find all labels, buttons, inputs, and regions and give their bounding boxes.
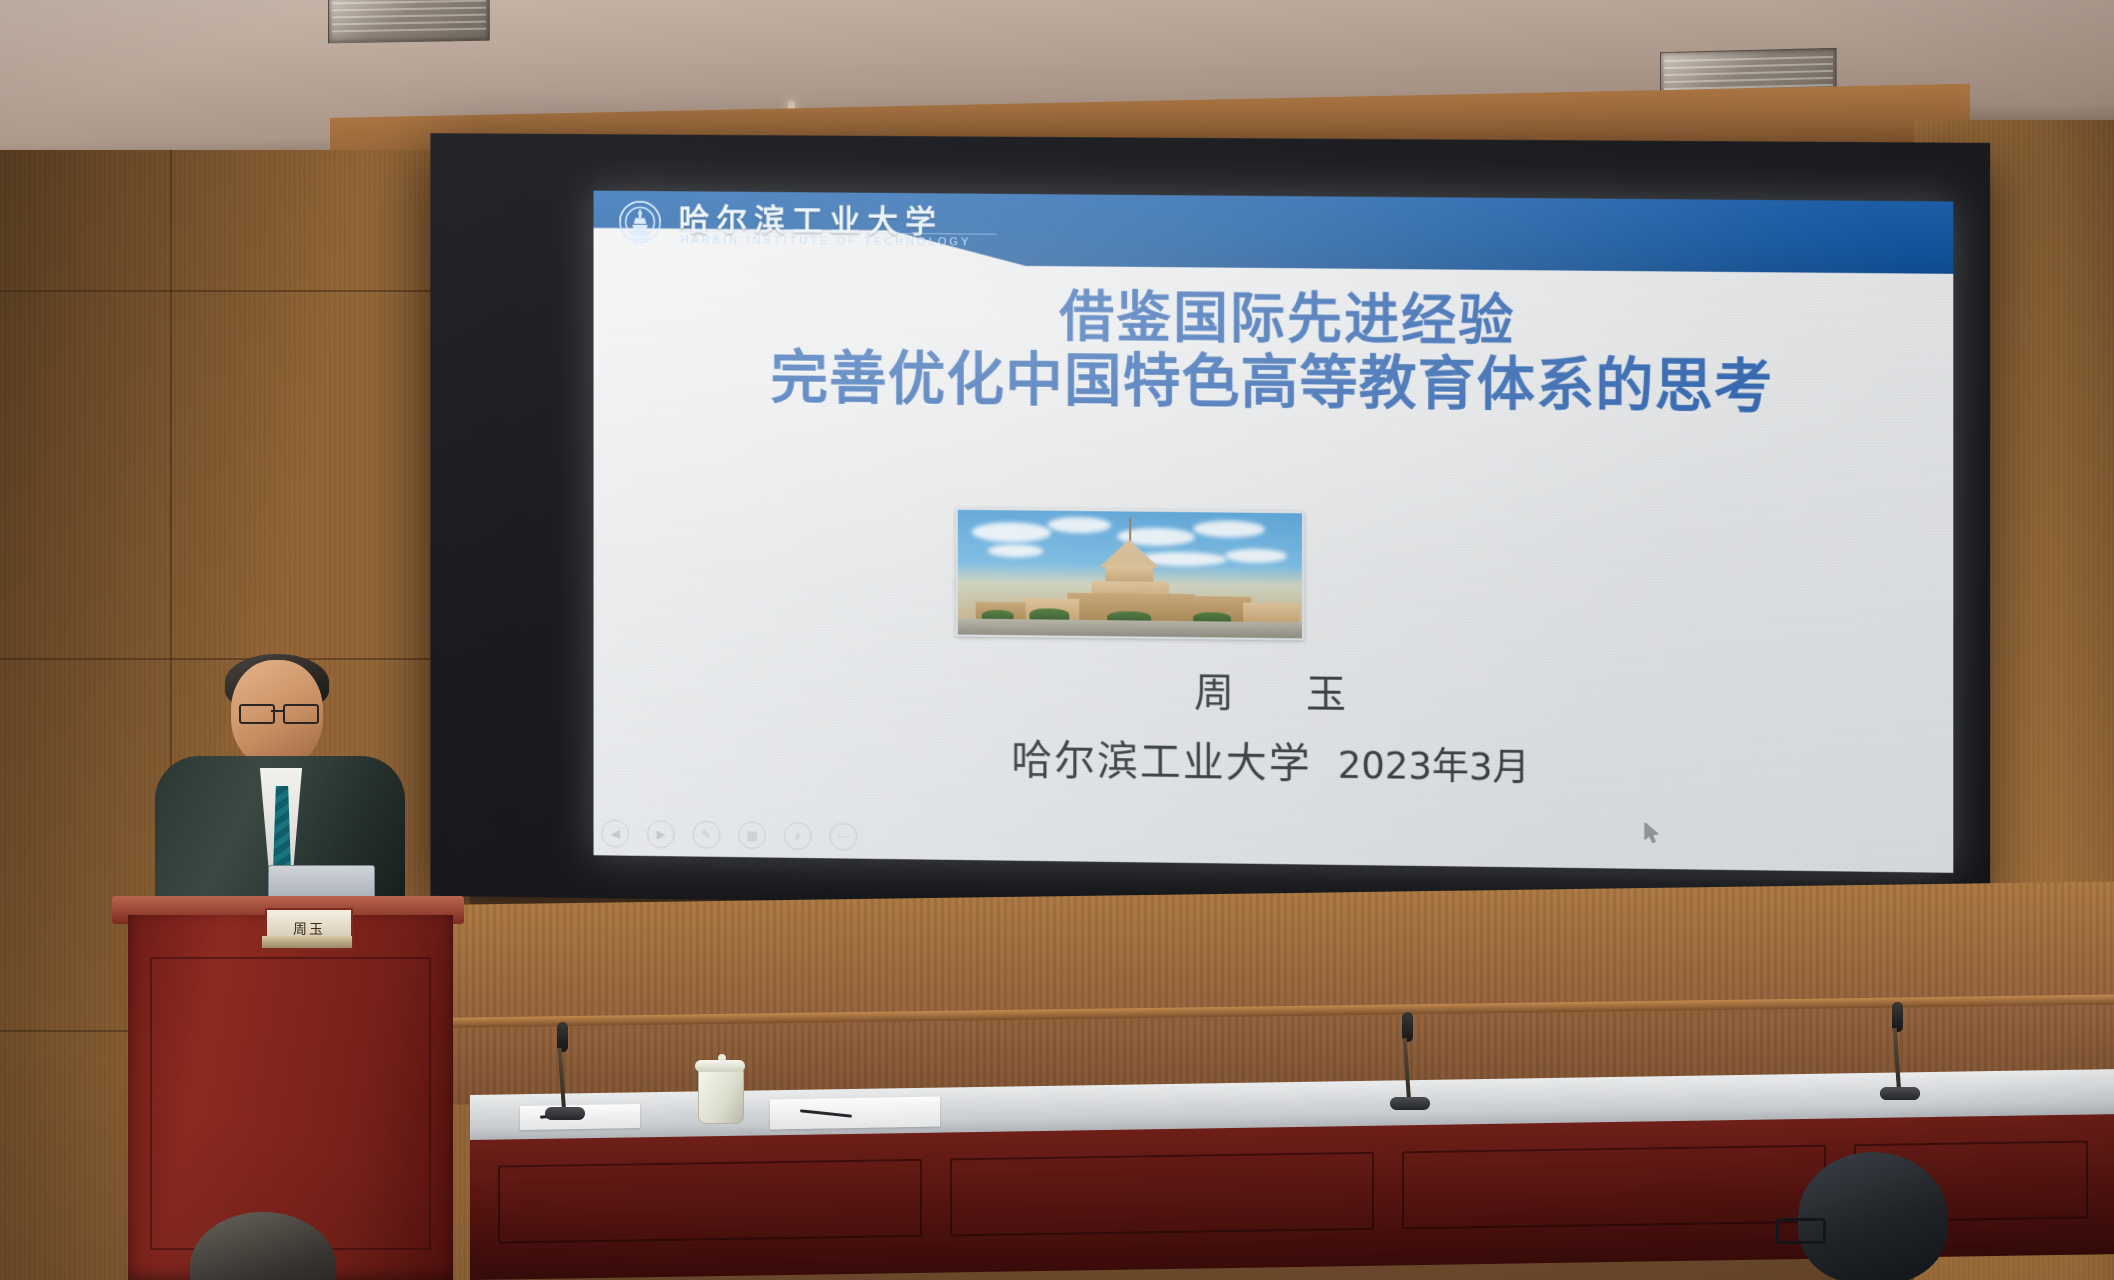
campus-building-photo xyxy=(956,508,1304,641)
slide-university-name-en: HARBIN INSTITUTE OF TECHNOLOGY xyxy=(681,234,972,248)
gooseneck-microphone xyxy=(1880,1000,1920,1100)
author-affiliation: 哈尔滨工业大学 xyxy=(1011,736,1311,788)
powerpoint-presenter-toolbar[interactable]: ◀ ▶ ✎ ▦ ⌕ ⋯ xyxy=(601,820,857,851)
slide-author-block: 周 玉 哈尔滨工业大学2023年3月 xyxy=(594,653,1954,797)
more-options-button[interactable]: ⋯ xyxy=(830,822,858,850)
conference-hall-scene: H I T 哈尔滨工业大学 HARBIN INSTITUTE OF TECHNO… xyxy=(0,0,2114,1280)
gooseneck-microphone xyxy=(545,1020,585,1120)
audience-member-right xyxy=(1798,1152,1948,1280)
ceiling-air-vent xyxy=(328,0,490,43)
next-slide-button[interactable]: ▶ xyxy=(647,820,675,848)
hit-emblem-icon: H I T xyxy=(609,196,670,254)
all-slides-button[interactable]: ▦ xyxy=(738,821,766,849)
tea-cup-with-lid xyxy=(698,1068,744,1124)
zoom-button[interactable]: ⌕ xyxy=(784,822,812,850)
presentation-slide[interactable]: H I T 哈尔滨工业大学 HARBIN INSTITUTE OF TECHNO… xyxy=(594,191,1954,873)
presentation-date: 2023年3月 xyxy=(1338,744,1530,789)
pen-tool-button[interactable]: ✎ xyxy=(693,821,721,849)
svg-text:H I T: H I T xyxy=(635,242,645,248)
previous-slide-button[interactable]: ◀ xyxy=(601,820,629,848)
mouse-pointer-icon xyxy=(1643,822,1661,846)
slide-title: 借鉴国际先进经验 完善优化中国特色高等教育体系的思考 xyxy=(594,282,1954,421)
slide-title-line2: 完善优化中国特色高等教育体系的思考 xyxy=(594,343,1954,421)
audience-glasses xyxy=(1776,1218,1826,1244)
author-affiliation-row: 哈尔滨工业大学2023年3月 xyxy=(594,721,1954,798)
presenter-glasses xyxy=(239,704,323,720)
nameplate-base xyxy=(262,936,352,948)
stage-back-wall xyxy=(430,881,2114,1105)
document-paper xyxy=(770,1097,940,1130)
gooseneck-microphone xyxy=(1390,1010,1430,1110)
podium-front-panel xyxy=(150,957,431,1250)
author-name: 周 玉 xyxy=(594,653,1954,727)
